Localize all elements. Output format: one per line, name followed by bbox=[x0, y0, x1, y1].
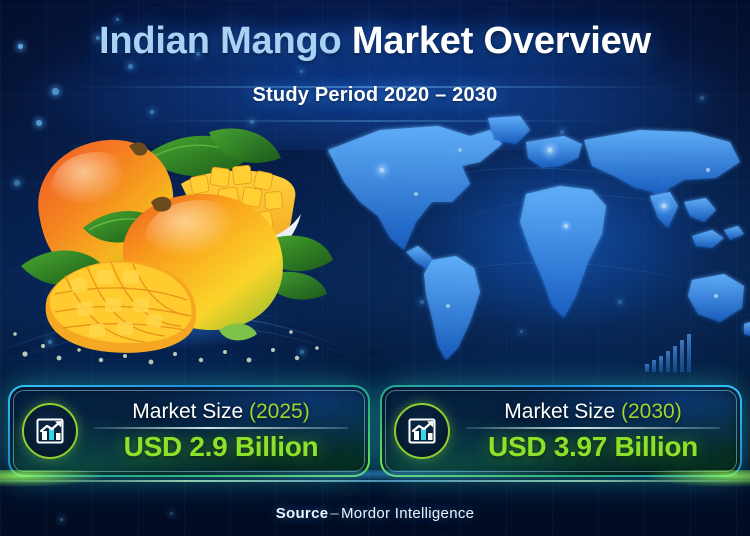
background-mini-bar-chart bbox=[645, 330, 705, 372]
metric-cards-row: Market Size (2025) USD 2.9 Billion bbox=[0, 385, 750, 477]
infographic-canvas: Indian Mango Market Overview Study Perio… bbox=[0, 0, 750, 536]
growth-chart-icon bbox=[394, 403, 450, 459]
source-dash: – bbox=[330, 505, 339, 522]
world-map-glow bbox=[330, 120, 740, 360]
market-size-2025-value: USD 2.9 Billion bbox=[88, 431, 354, 463]
market-size-2030-label-text: Market Size bbox=[504, 400, 615, 423]
market-size-2025-label: Market Size (2025) bbox=[88, 400, 354, 424]
source-attribution: Source–Mordor Intelligence bbox=[0, 505, 750, 522]
market-size-2030-card[interactable]: Market Size (2030) USD 3.97 Billion bbox=[380, 385, 742, 477]
title-rest: Market Overview bbox=[352, 20, 651, 62]
growth-chart-icon bbox=[22, 403, 78, 459]
source-name: Mordor Intelligence bbox=[341, 505, 474, 522]
market-size-2025-card[interactable]: Market Size (2025) USD 2.9 Billion bbox=[8, 385, 370, 477]
market-size-2025-text: Market Size (2025) USD 2.9 Billion bbox=[88, 400, 368, 463]
market-size-2030-value: USD 3.97 Billion bbox=[460, 431, 726, 463]
market-size-2025-year: (2025) bbox=[249, 400, 310, 423]
source-label: Source bbox=[276, 505, 329, 522]
study-period-subtitle: Study Period 2020 – 2030 bbox=[0, 84, 750, 107]
world-map-graphic bbox=[320, 110, 750, 375]
card-divider bbox=[94, 427, 348, 429]
cards-under-line bbox=[0, 480, 750, 482]
title-highlight: Indian Mango bbox=[99, 20, 341, 62]
market-size-2030-label: Market Size (2030) bbox=[460, 400, 726, 424]
card-divider bbox=[466, 427, 720, 429]
page-title: Indian Mango Market Overview bbox=[0, 20, 750, 63]
market-size-2030-text: Market Size (2030) USD 3.97 Billion bbox=[460, 400, 740, 463]
market-size-2025-label-text: Market Size bbox=[132, 400, 243, 423]
mango-fruit-illustration bbox=[5, 118, 335, 368]
market-size-2030-year: (2030) bbox=[621, 400, 682, 423]
